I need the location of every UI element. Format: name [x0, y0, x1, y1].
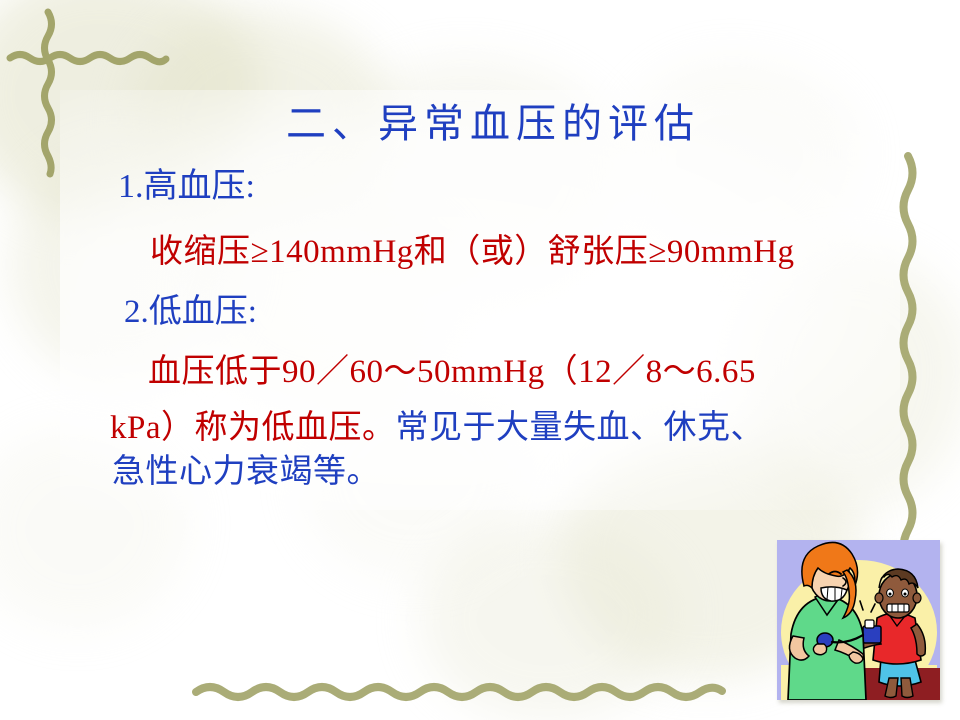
watermark-blob [740, 250, 960, 510]
clipart-artwork [777, 540, 940, 700]
vine-cross-vertical-icon [36, 8, 62, 180]
body-hypotension-value: 血压低于90／60～50mmHg（12／8～6.65 [148, 356, 756, 389]
heading-hypotension: 2.低血压: [124, 296, 257, 329]
vine-cross-horizontal-icon [6, 44, 186, 70]
watermark-blob [620, 60, 860, 260]
body-hypertension-value: 收缩压≥140mmHg和（或）舒张压≥90mmHg [150, 236, 795, 269]
vine-bottom-edge-icon [190, 676, 750, 706]
body-hypotension-causes-end: 急性心力衰竭等。 [112, 456, 380, 489]
slide-title: 二、异常血压的评估 [0, 104, 960, 144]
body-hypotension-definition: kPa）称为低血压。常见于大量失血、休克、 [110, 412, 764, 445]
clipart-nurse-blood-pressure [777, 540, 940, 700]
heading-hypertension: 1.高血压: [118, 170, 255, 204]
slide-canvas: 二、异常血压的评估 1.高血压: 收缩压≥140mmHg和（或）舒张压≥90mm… [0, 0, 960, 720]
body-hypotension-definition-red: kPa）称为低血压。 [110, 410, 396, 446]
body-hypotension-causes-start: 常见于大量失血、休克、 [396, 410, 765, 446]
watermark-blob [420, 520, 680, 720]
